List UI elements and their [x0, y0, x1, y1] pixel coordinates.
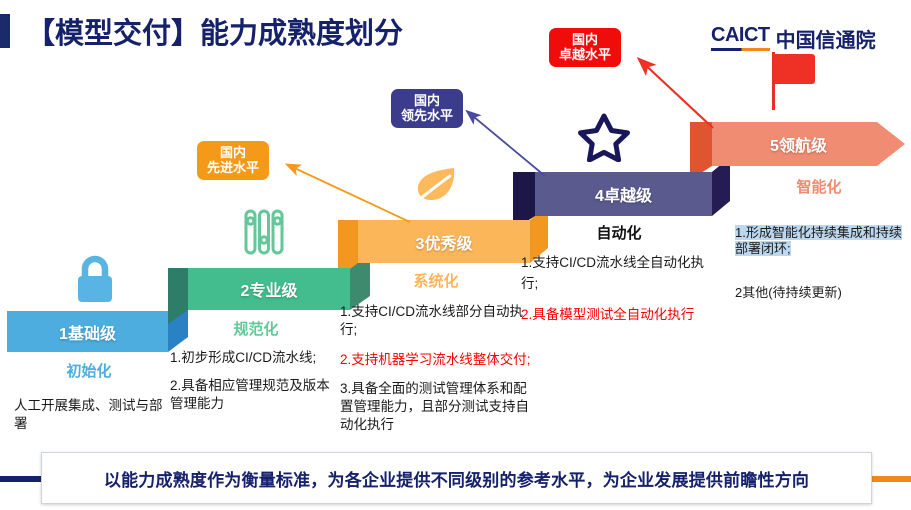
footer-text: 以能力成熟度作为衡量标准，为各企业提供不同级别的参考水平，为企业发展提供前瞻性方… [104, 466, 809, 491]
footer-box: 以能力成熟度作为衡量标准，为各企业提供不同级别的参考水平，为企业发展提供前瞻性方… [41, 452, 872, 504]
step-3-label: 3优秀级 [416, 230, 473, 254]
step-block-3[interactable]: 3优秀级 [358, 220, 530, 263]
level-2-column: 规范化 1.初步形成CI/CD流水线; 2.具备相应管理规范及版本管理能力 [170, 318, 342, 412]
level-3-item-3: 3.具备全面的测试管理体系和配置管理能力，且部分测试支持自动化执行 [340, 380, 532, 433]
callout-red[interactable]: 国内 卓越水平 [549, 28, 621, 67]
level-3-item-2: 2.支持机器学习流水线整体交付; [340, 351, 532, 369]
slide-canvas: 【模型交付】能力成熟度划分 CAICT 中国信通院 1基础级 2专业级 3优秀级… [0, 0, 911, 510]
step-block-2[interactable]: 2专业级 [188, 268, 350, 310]
step-4-label: 4卓越级 [595, 182, 652, 206]
step-5-face: 5领航级 [712, 122, 905, 166]
step-2-label: 2专业级 [241, 277, 298, 301]
caict-logo: CAICT 中国信通院 [711, 24, 876, 53]
callout-orange[interactable]: 国内 先进水平 [197, 141, 269, 180]
star-icon [578, 112, 630, 162]
page-title: 【模型交付】能力成熟度划分 [26, 10, 403, 52]
level-1-subtitle: 初始化 [14, 360, 164, 381]
footer-banner: 以能力成熟度作为衡量标准，为各企业提供不同级别的参考水平，为企业发展提供前瞻性方… [0, 452, 911, 506]
level-1-column: 初始化 人工开展集成、测试与部署 [14, 360, 164, 433]
level-3-item-1: 1.支持CI/CD流水线部分自动执行; [340, 303, 532, 339]
level-5-subtitle: 智能化 [735, 176, 903, 197]
step-block-4[interactable]: 4卓越级 [535, 172, 712, 216]
step-3-face: 3优秀级 [358, 220, 530, 263]
step-1-face: 1基础级 [7, 311, 168, 352]
level-1-item-1: 人工开展集成、测试与部署 [14, 397, 164, 433]
logo-abbr: CAICT [711, 24, 770, 51]
leaf-icon [412, 163, 458, 207]
level-2-subtitle: 规范化 [170, 318, 342, 339]
step-block-5[interactable]: 5领航级 [712, 122, 905, 166]
step-2-face: 2专业级 [188, 268, 350, 310]
logo-chinese-name: 中国信通院 [776, 24, 876, 53]
level-5-item-1: 1.形成智能化持续集成和持续部署闭环; [735, 225, 903, 257]
level-5-item-1-text: 1.形成智能化持续集成和持续部署闭环; [735, 225, 902, 256]
step-4-face: 4卓越级 [535, 172, 712, 216]
level-2-item-2: 2.具备相应管理规范及版本管理能力 [170, 377, 342, 413]
level-5-column: 智能化 1.形成智能化持续集成和持续部署闭环; 2其他(待持续更新) [735, 176, 903, 301]
header-accent-bar [0, 14, 10, 48]
flag-icon [772, 52, 818, 110]
level-3-subtitle: 系统化 [340, 270, 532, 291]
level-4-subtitle: 自动化 [521, 222, 717, 243]
step-1-label: 1基础级 [59, 320, 116, 344]
level-3-column: 系统化 1.支持CI/CD流水线部分自动执行; 2.支持机器学习流水线整体交付;… [340, 270, 532, 434]
lock-icon [72, 252, 118, 308]
flag-cloth [775, 54, 815, 84]
step-5-label: 5领航级 [770, 132, 827, 156]
step-block-1[interactable]: 1基础级 [7, 311, 168, 352]
callout-blue[interactable]: 国内 领先水平 [391, 89, 463, 128]
level-4-item-2: 2.具备模型测试全自动化执行 [521, 305, 717, 326]
level-5-item-2: 2其他(待持续更新) [735, 285, 903, 301]
level-2-item-1: 1.初步形成CI/CD流水线; [170, 349, 342, 367]
sliders-icon [243, 208, 285, 256]
level-4-column: 自动化 1.支持CI/CD流水线全自动化执行; 2.具备模型测试全自动化执行 [521, 222, 717, 326]
level-4-item-1: 1.支持CI/CD流水线全自动化执行; [521, 253, 717, 295]
